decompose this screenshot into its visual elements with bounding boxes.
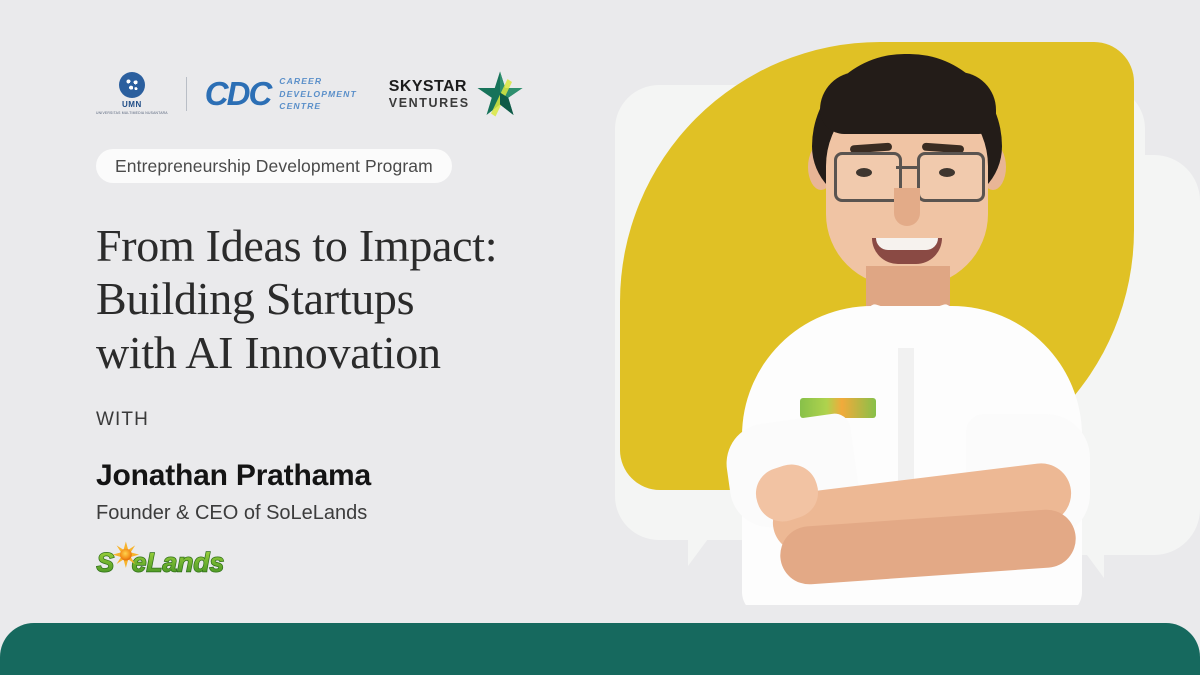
- teeth: [876, 238, 938, 250]
- presentation-slide: UMN UNIVERSITAS MULTIMEDIA NUSANTARA CDC…: [0, 0, 1200, 675]
- hair-fringe: [820, 72, 996, 134]
- speaker-role: Founder & CEO of SoLeLands: [96, 502, 367, 525]
- umn-abbrev: UMN: [122, 100, 142, 109]
- skystar-star-icon: [476, 70, 524, 118]
- glasses-lens-right: [917, 152, 985, 202]
- page-title: From Ideas to Impact: Building Startups …: [96, 219, 566, 379]
- skystar-name: SKYSTAR: [389, 78, 470, 96]
- umn-logo: UMN UNIVERSITAS MULTIMEDIA NUSANTARA: [96, 72, 168, 115]
- sun-icon: [113, 541, 139, 567]
- cdc-tagline-line3: CENTRE: [279, 100, 357, 112]
- cdc-tagline-line2: DEVELOPMENT: [279, 88, 357, 100]
- with-label: WITH: [96, 409, 149, 431]
- program-badge: Entrepreneurship Development Program: [96, 149, 452, 183]
- cdc-logo: CDC CAREER DEVELOPMENT CENTRE: [205, 75, 357, 113]
- cdc-tagline-line1: CAREER: [279, 75, 357, 87]
- partner-logos: UMN UNIVERSITAS MULTIMEDIA NUSANTARA CDC…: [96, 70, 524, 118]
- glasses-lens-left: [834, 152, 902, 202]
- logo-divider: [186, 77, 187, 111]
- cdc-wordmark: CDC: [205, 75, 271, 113]
- cdc-tagline: CAREER DEVELOPMENT CENTRE: [279, 75, 357, 112]
- svg-text:eLands: eLands: [132, 547, 224, 577]
- umn-dome-icon: [119, 72, 145, 98]
- skystar-logo: SKYSTAR VENTURES: [389, 70, 524, 118]
- skystar-sub: VENTURES: [389, 96, 470, 110]
- skystar-wordmark: SKYSTAR VENTURES: [389, 78, 470, 110]
- svg-text:S: S: [97, 547, 115, 577]
- title-line-3: with AI Innovation: [96, 326, 566, 379]
- speaker-photo: [600, 0, 1200, 675]
- nose: [894, 188, 920, 226]
- portrait-illustration: [708, 48, 1108, 608]
- bottom-accent-bar: [0, 623, 1200, 675]
- title-line-1: From Ideas to Impact:: [96, 219, 566, 272]
- speaker-photo-composition: [600, 0, 1200, 675]
- solelands-logo: S eLands: [94, 540, 234, 584]
- umn-fullname: UNIVERSITAS MULTIMEDIA NUSANTARA: [96, 111, 168, 115]
- speaker-name: Jonathan Prathama: [96, 459, 371, 493]
- title-line-2: Building Startups: [96, 272, 566, 325]
- content-column: UMN UNIVERSITAS MULTIMEDIA NUSANTARA CDC…: [0, 0, 600, 675]
